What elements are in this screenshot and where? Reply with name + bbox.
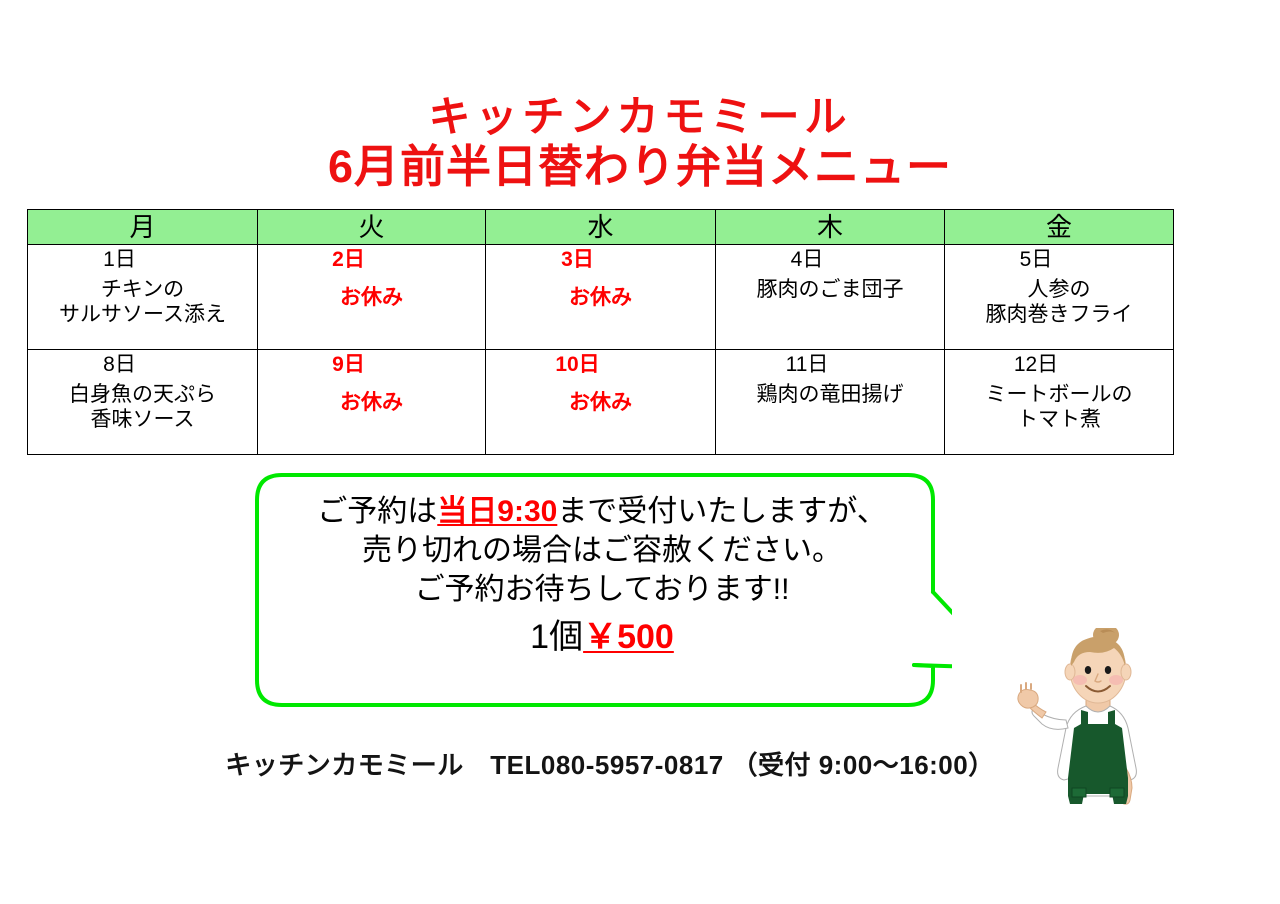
menu-cell: 2日 お休み [258,245,486,350]
menu-cell-date: 8日 [28,353,257,378]
menu-cell-date: 5日 [945,248,1173,273]
menu-table: 月 火 水 木 金 1日 チキンの サルサソース添え 2日 お休み [27,209,1174,455]
page-title: キッチンカモミール 6月前半日替わり弁当メニュー [0,96,1280,189]
waving-woman-icon [1008,628,1188,858]
page-title-line-1: キッチンカモミール [0,96,1280,138]
menu-cell-date: 9日 [258,353,485,378]
menu-cell: 1日 チキンの サルサソース添え [28,245,258,350]
bubble-price-line: 1個￥500 [266,615,938,659]
bubble-line-2: 売り切れの場合はご容赦ください。 [266,531,938,570]
menu-cell-date: 10日 [486,353,715,378]
menu-cell-date: 1日 [28,248,257,273]
column-header-thursday: 木 [716,210,945,245]
bubble-line-1-after: まで受付いたしますが、 [557,495,886,528]
table-row: 1日 チキンの サルサソース添え 2日 お休み 3日 お休み 4日 [28,245,1174,350]
table-row: 8日 白身魚の天ぷら 香味ソース 9日 お休み 10日 お休み 11日 [28,350,1174,455]
column-header-monday: 月 [28,210,258,245]
bubble-line-1: ご予約は当日9:30まで受付いたしますが、 [266,492,938,531]
menu-cell: 10日 お休み [486,350,716,455]
menu-cell-item: 白身魚の天ぷら 香味ソース [28,382,257,432]
menu-cell-date: 11日 [716,353,944,378]
menu-cell: 4日 豚肉のごま団子 [716,245,945,350]
menu-cell-item: お休み [486,390,715,415]
menu-cell-item: ミートボールの トマト煮 [945,382,1173,432]
menu-cell-date: 2日 [258,248,485,273]
menu-cell-item: 豚肉のごま団子 [716,277,944,302]
menu-cell: 8日 白身魚の天ぷら 香味ソース [28,350,258,455]
menu-cell-date: 3日 [486,248,715,273]
column-header-tuesday: 火 [258,210,486,245]
column-header-friday: 金 [945,210,1174,245]
reservation-notice-bubble: ご予約は当日9:30まで受付いたしますが、 売り切れの場合はご容赦ください。 ご… [252,470,952,714]
menu-cell: 11日 鶏肉の竜田揚げ [716,350,945,455]
menu-cell-item: 人参の 豚肉巻きフライ [945,277,1173,327]
price-value: ￥500 [583,618,674,656]
menu-cell: 9日 お休み [258,350,486,455]
menu-cell-item: お休み [258,390,485,415]
bubble-line-3: ご予約お待ちしております!! [266,570,938,609]
menu-cell-date: 4日 [716,248,944,273]
menu-cell-item: チキンの サルサソース添え [28,277,257,327]
footer-contact: キッチンカモミール TEL080-5957-0817 （受付 9:00〜16:0… [0,745,1280,782]
menu-cell: 3日 お休み [486,245,716,350]
bubble-line-1-before: ご予約は [317,495,437,528]
menu-cell-item: お休み [258,285,485,310]
menu-cell-date: 12日 [945,353,1173,378]
page-title-line-2: 6月前半日替わり弁当メニュー [0,144,1280,189]
table-header-row: 月 火 水 木 金 [28,210,1174,245]
staff-character-illustration [1008,628,1188,858]
column-header-wednesday: 水 [486,210,716,245]
menu-cell-item: 鶏肉の竜田揚げ [716,382,944,407]
bubble-deadline-highlight: 当日9:30 [437,495,557,528]
menu-cell: 12日 ミートボールの トマト煮 [945,350,1174,455]
menu-cell-item: お休み [486,285,715,310]
menu-cell: 5日 人参の 豚肉巻きフライ [945,245,1174,350]
price-prefix: 1個 [530,618,583,656]
